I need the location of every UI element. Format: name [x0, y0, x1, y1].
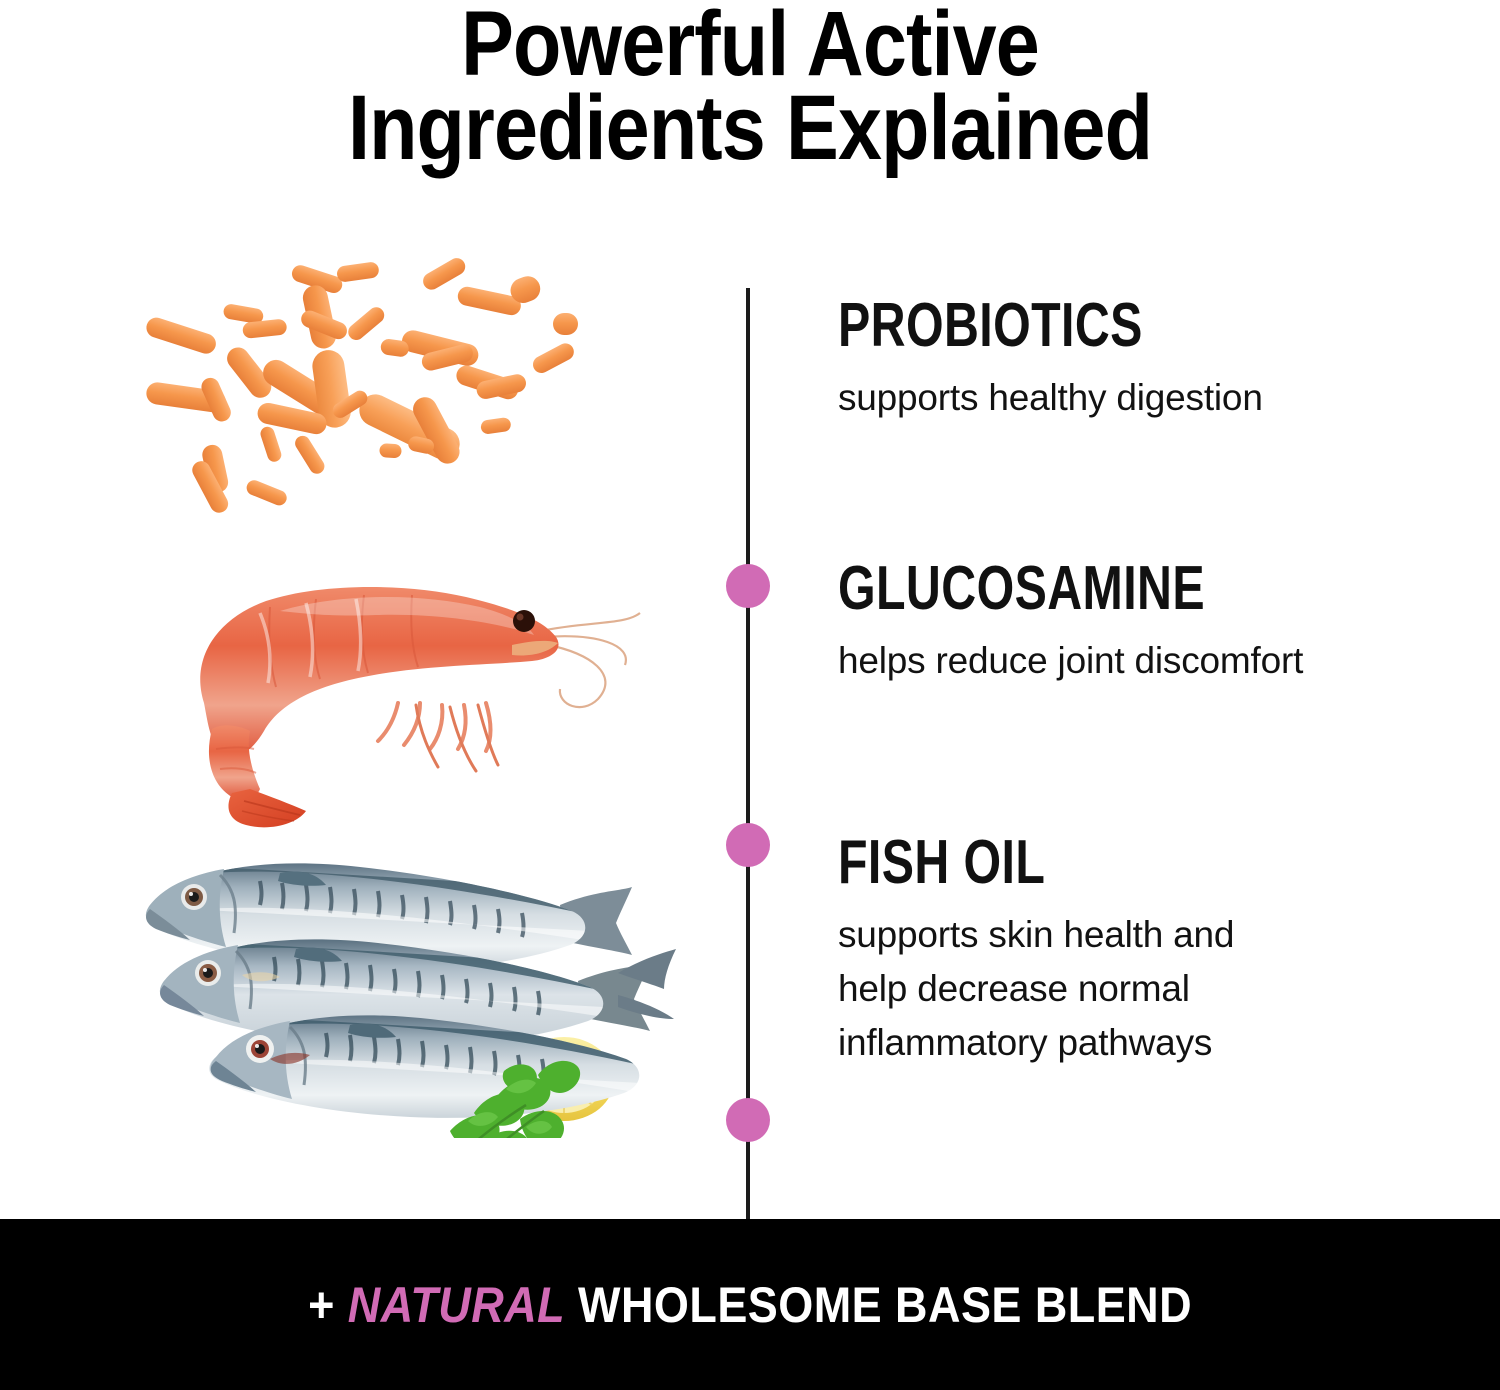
infographic-page: Powerful Active Ingredients Explained — [0, 0, 1500, 1390]
ingredient-description: supports skin health and help decrease n… — [838, 908, 1308, 1070]
footer-rest: WHOLESOME BASE BLEND — [578, 1277, 1192, 1333]
footer-plus-sign: + — [308, 1277, 335, 1333]
ingredient-item-fish-oil: FISH OIL supports skin health and help d… — [838, 832, 1458, 1070]
title-line-1: Powerful Active — [105, 2, 1395, 86]
glucosamine-image — [120, 553, 700, 833]
timeline-dot-fish-oil — [726, 1098, 770, 1142]
timeline-dot-probiotics — [726, 564, 770, 608]
timeline-dot-glucosamine — [726, 823, 770, 867]
timeline-line — [746, 288, 750, 1219]
ingredient-image-column — [120, 235, 700, 1219]
footer-emphasis: NATURAL — [348, 1277, 565, 1333]
footer-tagline: + NATURAL WHOLESOME BASE BLEND — [308, 1279, 1192, 1331]
ingredient-item-glucosamine: GLUCOSAMINE helps reduce joint discomfor… — [838, 558, 1458, 688]
probiotics-image — [120, 243, 700, 533]
ingredient-description: helps reduce joint discomfort — [838, 634, 1308, 688]
ingredient-title: FISH OIL — [838, 832, 1322, 894]
content-area: PROBIOTICS supports healthy digestion GL… — [0, 235, 1500, 1219]
fish-oil-image — [120, 843, 700, 1138]
ingredient-title: PROBIOTICS — [838, 295, 1322, 357]
page-title: Powerful Active Ingredients Explained — [0, 0, 1500, 170]
title-line-2: Ingredients Explained — [105, 86, 1395, 170]
ingredient-description: supports healthy digestion — [838, 371, 1308, 425]
ingredient-title: GLUCOSAMINE — [838, 558, 1322, 620]
ingredient-item-probiotics: PROBIOTICS supports healthy digestion — [838, 295, 1458, 425]
footer-bar: + NATURAL WHOLESOME BASE BLEND — [0, 1219, 1500, 1390]
